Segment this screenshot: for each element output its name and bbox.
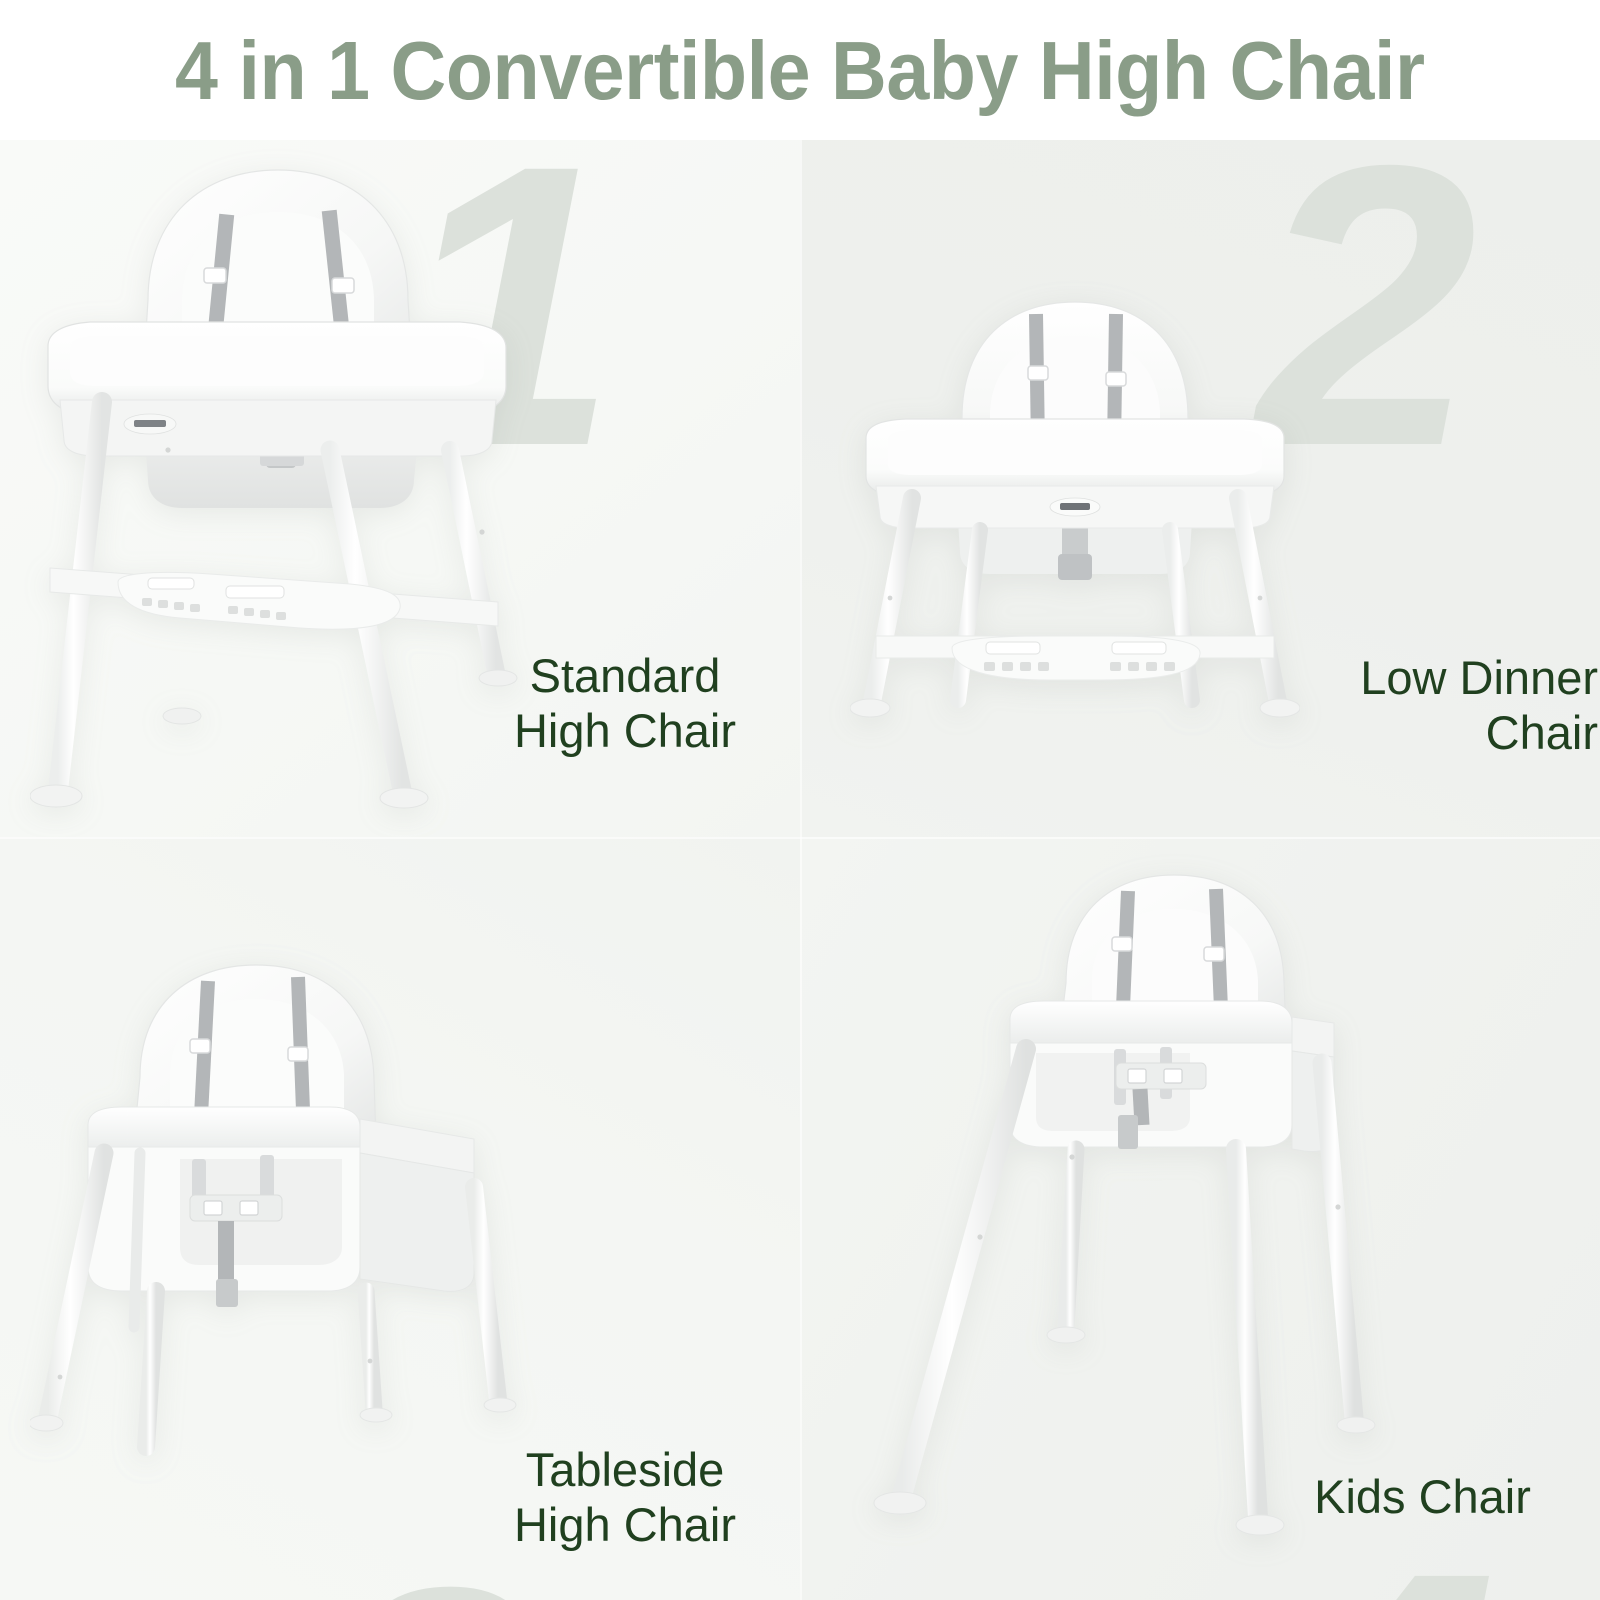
product-image-tableside-high-chair (30, 947, 530, 1467)
quadrant-2-low-dinner-chair: 2 (800, 140, 1600, 837)
footrest-bar (50, 568, 498, 629)
chair-tray (866, 419, 1284, 528)
quadrant-divider-horizontal-right (800, 837, 1600, 839)
watermark-number-4: 4 (1270, 1557, 1498, 1600)
caption-tableside-high-chair: Tableside High Chair (460, 1442, 790, 1553)
infographic-page: 4 in 1 Convertible Baby High Chair 1 (0, 0, 1600, 1600)
quadrant-grid: 1 (0, 140, 1600, 1600)
caption-low-dinner-chair: Low Dinner Chair (1270, 650, 1600, 761)
chair-tray (48, 322, 506, 456)
caption-standard-high-chair: Standard High Chair (470, 648, 780, 759)
title-bar: 4 in 1 Convertible Baby High Chair (0, 0, 1600, 140)
quadrant-1-standard-high-chair: 1 (0, 140, 800, 837)
product-image-low-dinner-chair (850, 280, 1300, 780)
quadrant-3-tableside-high-chair: 3 (0, 837, 800, 1600)
quadrant-divider-vertical-bottom (800, 837, 802, 1600)
product-image-kids-chair (860, 857, 1380, 1557)
watermark-number-3: 3 (320, 1572, 537, 1600)
footrest-bar (876, 636, 1274, 680)
quadrant-4-kids-chair: 4 (800, 837, 1600, 1600)
quadrant-divider-vertical-top (800, 140, 802, 837)
quadrant-divider-horizontal-left (0, 837, 800, 839)
brand-logo-badge (1050, 498, 1100, 516)
brand-logo-badge (124, 414, 176, 434)
caption-kids-chair: Kids Chair (1250, 1469, 1595, 1524)
page-title: 4 in 1 Convertible Baby High Chair (175, 29, 1424, 112)
